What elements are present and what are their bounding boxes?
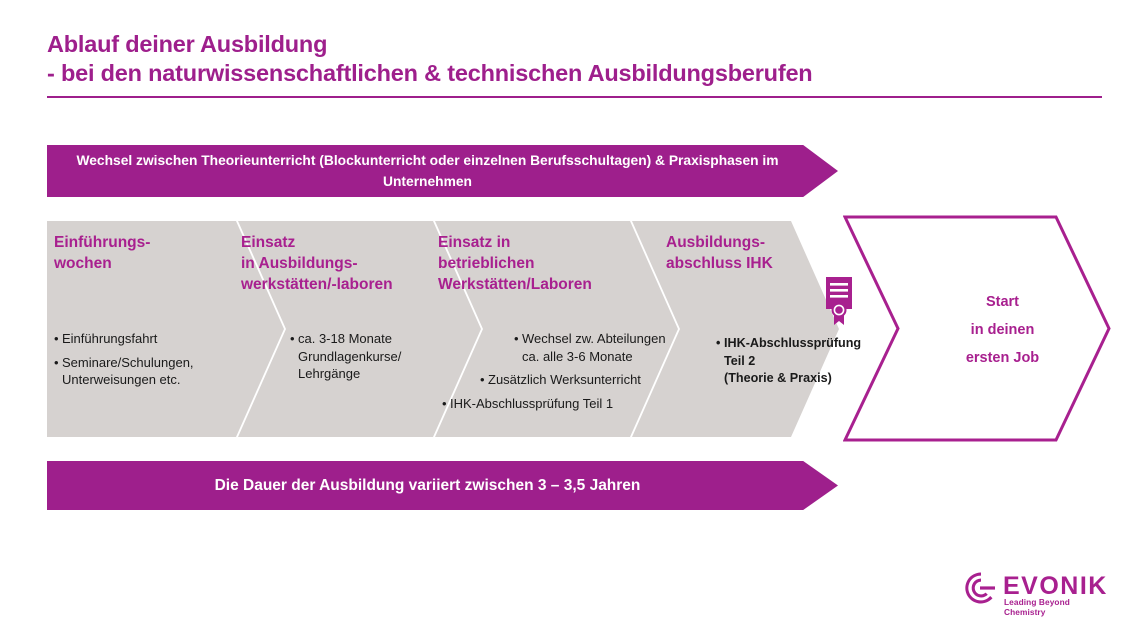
stage-4-heading: Ausbildungs- abschluss IHK: [666, 232, 846, 274]
final-arrow-label: Start in deinen ersten Job: [930, 288, 1075, 372]
title-line-2: - bei den naturwissenschaftlichen & tech…: [47, 59, 1102, 88]
list-item-text: Wechsel zw. Abteilungen ca. alle 3-6 Mon…: [522, 330, 666, 365]
slide-canvas: Ablauf deiner Ausbildung - bei den natur…: [0, 0, 1140, 641]
list-item: • Wechsel zw. Abteilungen ca. alle 3-6 M…: [440, 330, 690, 365]
final-arrow-line-1: Start: [930, 288, 1075, 316]
evonik-mark-icon: [963, 570, 999, 606]
list-item: • Einführungsfahrt: [54, 330, 234, 348]
bullet-icon: •: [442, 395, 450, 413]
list-item-text: Zusätzlich Werksunterricht: [488, 371, 641, 389]
list-item-text: ca. 3-18 Monate Grundlagenkurse/ Lehrgän…: [298, 330, 401, 383]
bottom-banner-text: Die Dauer der Ausbildung variiert zwisch…: [215, 477, 641, 495]
list-item: • Zusätzlich Werksunterricht: [440, 371, 690, 389]
evonik-tagline: Leading Beyond Chemistry: [1004, 597, 1103, 617]
stage-3-body: • Wechsel zw. Abteilungen ca. alle 3-6 M…: [440, 330, 690, 412]
stage-2-heading: Einsatz in Ausbildungs- werkstätten/-lab…: [241, 232, 451, 295]
final-arrow-line-2: in deinen: [930, 316, 1075, 344]
title-line-1: Ablauf deiner Ausbildung: [47, 30, 1102, 59]
bullet-icon: •: [480, 371, 488, 389]
list-item-text: Einführungsfahrt: [62, 330, 157, 348]
top-banner-text: Wechsel zwischen Theorieunterricht (Bloc…: [47, 150, 808, 192]
top-banner: Wechsel zwischen Theorieunterricht (Bloc…: [47, 145, 838, 197]
bottom-banner: Die Dauer der Ausbildung variiert zwisch…: [47, 461, 838, 510]
stage-3-heading: Einsatz in betrieblichen Werkstätten/Lab…: [438, 232, 663, 295]
bullet-icon: •: [290, 330, 298, 383]
bullet-icon: •: [54, 330, 62, 348]
bullet-icon: •: [54, 354, 62, 389]
list-item: • IHK-Abschlussprüfung Teil 1: [440, 395, 690, 413]
list-item-text: Seminare/Schulungen, Unterweisungen etc.: [62, 354, 194, 389]
bullet-icon: •: [716, 335, 724, 388]
bullet-icon: •: [514, 330, 522, 365]
stage-1-heading: Einführungs- wochen: [54, 232, 224, 274]
list-item-text: IHK-Abschlussprüfung Teil 1: [450, 395, 613, 413]
list-item-text: IHK-Abschlussprüfung Teil 2 (Theorie & P…: [724, 335, 861, 388]
title-divider: [47, 96, 1102, 98]
stage-1-body: • Einführungsfahrt • Seminare/Schulungen…: [54, 330, 234, 389]
evonik-logo: EVONIK Leading Beyond Chemistry: [963, 570, 1103, 612]
list-item: • Seminare/Schulungen, Unterweisungen et…: [54, 354, 234, 389]
page-title: Ablauf deiner Ausbildung - bei den natur…: [47, 30, 1102, 88]
final-arrow-line-3: ersten Job: [930, 344, 1075, 372]
